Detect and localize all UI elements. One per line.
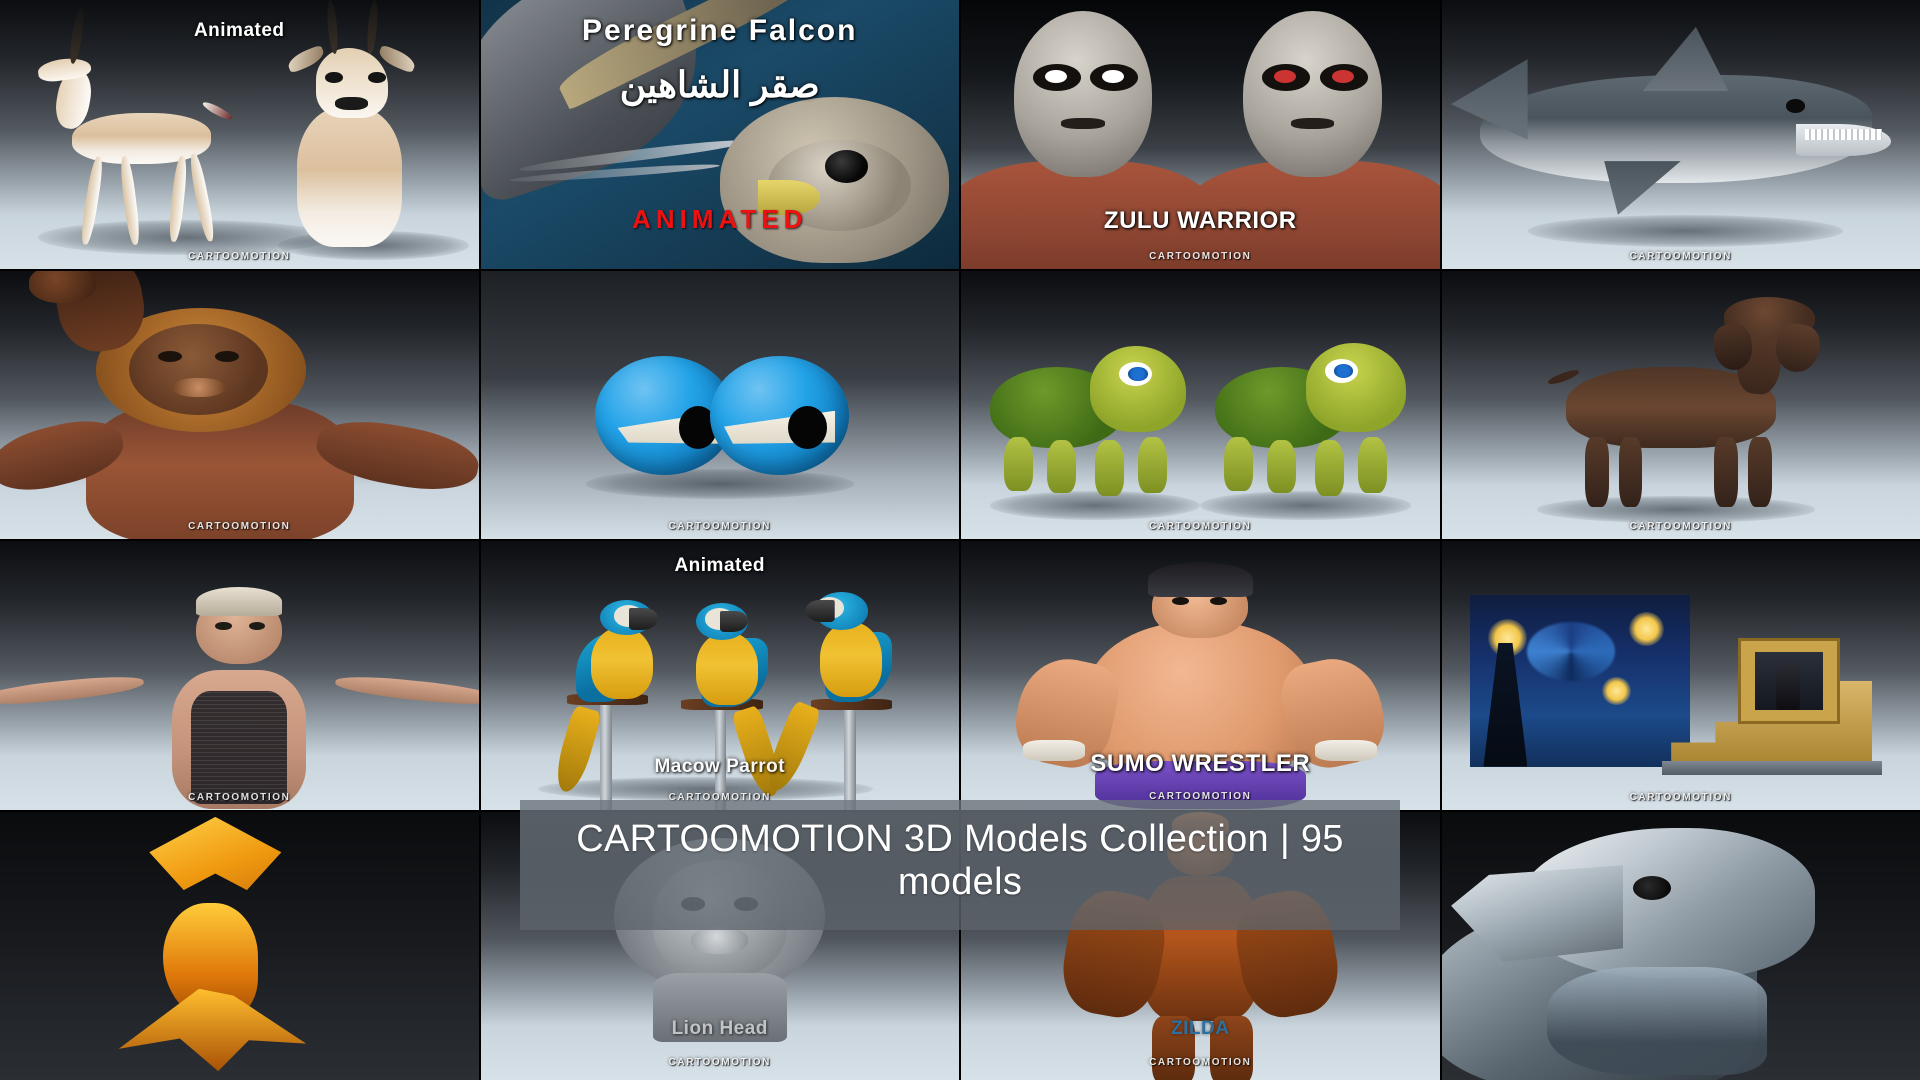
thumbnail-eyeballs[interactable]: CARTOOMOTION — [481, 271, 960, 540]
thumbnail-golden-fish[interactable] — [0, 812, 479, 1080]
thumbnail-starry-night-diorama[interactable]: CARTOOMOTION — [1442, 541, 1920, 810]
thumbnail-peregrine-falcon[interactable]: Peregrine Falcon صقر الشاهين ANIMATED — [481, 0, 960, 269]
lionhead-muzzle — [691, 927, 748, 954]
parrot-body — [820, 622, 882, 697]
cell-title: ZILDA — [961, 1018, 1440, 1040]
lionman-muzzle — [172, 378, 225, 397]
parrot-beak — [806, 600, 835, 621]
watermark: CARTOOMOTION — [1442, 521, 1920, 532]
parrot-body — [591, 627, 653, 699]
watermark: CARTOOMOTION — [0, 792, 479, 803]
floor-shadow — [1200, 491, 1411, 521]
zulu-mouth — [1061, 118, 1104, 129]
turtle-leg — [1224, 437, 1253, 491]
thumbnail-wireframe-man[interactable]: CARTOOMOTION — [0, 541, 479, 810]
thumbnail-lion-man[interactable]: CARTOOMOTION — [0, 271, 479, 540]
painting-star — [1602, 677, 1631, 704]
turtle-head — [1306, 343, 1406, 432]
watermark: CARTOOMOTION — [481, 521, 960, 532]
zulu-mouth — [1291, 118, 1334, 129]
man-eye — [215, 622, 231, 630]
turtle-leg — [1047, 440, 1076, 494]
gazelle-eye — [325, 72, 342, 83]
lionman-eye — [158, 351, 182, 362]
cell-title: Peregrine Falcon — [481, 14, 960, 48]
watermark: CARTOOMOTION — [961, 251, 1440, 262]
gazelle-body — [72, 113, 211, 164]
watermark: CARTOOMOTION — [961, 1057, 1440, 1068]
cell-title: Animated — [0, 20, 479, 42]
turtle-leg — [1138, 437, 1167, 493]
quadruped-leg — [1748, 437, 1772, 507]
watermark: CARTOOMOTION — [1442, 792, 1920, 803]
cell-title: Macow Parrot — [481, 756, 960, 778]
painting-cypress — [1483, 643, 1527, 767]
parrot-beak — [629, 608, 658, 629]
eagle-eye — [1633, 876, 1671, 900]
animated-badge: ANIMATED — [481, 204, 960, 235]
turtle-leg — [1267, 440, 1296, 494]
eyeball-right — [710, 356, 849, 474]
thumbnail-sumo-wrestler[interactable]: SUMO WRESTLER CARTOOMOTION — [961, 541, 1440, 810]
watermark: CARTOOMOTION — [0, 521, 479, 532]
cell-title-arabic: صقر الشاهين — [481, 64, 960, 106]
collection-title: CARTOOMOTION 3D Models Collection | 95 m… — [520, 818, 1400, 904]
sumo-hair — [1148, 562, 1253, 597]
lionman-eye — [215, 351, 239, 362]
turtle-head — [1090, 346, 1186, 432]
cell-title: Lion Head — [481, 1018, 960, 1040]
diorama-painting-panel — [1470, 595, 1690, 767]
painting-star — [1629, 612, 1664, 646]
collection-title-banner: CARTOOMOTION 3D Models Collection | 95 m… — [520, 800, 1400, 930]
turtle-leg — [1358, 437, 1387, 493]
diorama-frame — [1738, 638, 1840, 725]
man-hair — [196, 587, 282, 617]
floor-shadow — [586, 469, 854, 499]
quadruped-leg — [1714, 437, 1738, 507]
zulu-eye — [1045, 70, 1067, 83]
turtle-leg — [1315, 440, 1344, 496]
turtle-leg — [1095, 440, 1124, 496]
gazelle-body — [297, 107, 402, 247]
zulu-head-left — [1014, 11, 1153, 177]
models-collection-contact-sheet: Animated CARTOOMOTION Peregrine Falcon ص… — [0, 0, 1920, 1080]
thumbnail-macow-parrot[interactable]: Animated Macow Parrot CARTOOMOTION — [481, 541, 960, 810]
eagle-feathers — [1547, 967, 1767, 1074]
man-wrestling-suit — [191, 691, 287, 804]
quadruped-leg — [1585, 437, 1609, 507]
shark-eye — [1786, 99, 1805, 112]
painting-swirl — [1527, 622, 1615, 680]
animated-badge: Animated — [481, 555, 960, 577]
turtle-iris — [1128, 367, 1147, 380]
man-eye — [249, 622, 265, 630]
cell-title: SUMO WRESTLER — [961, 750, 1440, 778]
thumbnail-quadruped[interactable]: CARTOOMOTION — [1442, 271, 1920, 540]
lionman-head — [129, 324, 268, 415]
watermark: CARTOOMOTION — [481, 1057, 960, 1068]
gazelle-muzzle — [335, 97, 368, 110]
quadruped-leg — [1619, 437, 1643, 507]
thumbnail-shark[interactable]: CARTOOMOTION — [1442, 0, 1920, 269]
gazelle-eye — [368, 72, 385, 83]
watermark: CARTOOMOTION — [0, 251, 479, 262]
thumbnail-turtles[interactable]: CARTOOMOTION — [961, 271, 1440, 540]
thumbnail-gazelle[interactable]: Animated CARTOOMOTION — [0, 0, 479, 269]
parrot-body — [696, 632, 758, 704]
floor-shadow — [990, 491, 1201, 521]
thumbnail-chrome-eagle[interactable] — [1442, 812, 1920, 1080]
eye-pupil — [788, 406, 827, 449]
zulu-head-right — [1243, 11, 1382, 177]
watermark: CARTOOMOTION — [1442, 251, 1920, 262]
turtle-leg — [1004, 437, 1033, 491]
floor-shadow — [1528, 215, 1844, 247]
cell-title: ZULU WARRIOR — [961, 207, 1440, 235]
watermark: CARTOOMOTION — [961, 521, 1440, 532]
thumbnail-zulu-warrior[interactable]: ZULU WARRIOR CARTOOMOTION — [961, 0, 1440, 269]
shark-teeth — [1805, 129, 1882, 140]
floor-shadow — [1537, 496, 1815, 523]
diorama-base — [1662, 761, 1882, 774]
zulu-eye — [1332, 70, 1354, 83]
frame-figure — [1776, 662, 1801, 710]
falcon-eye — [825, 150, 868, 182]
lionman-fist — [29, 271, 96, 303]
